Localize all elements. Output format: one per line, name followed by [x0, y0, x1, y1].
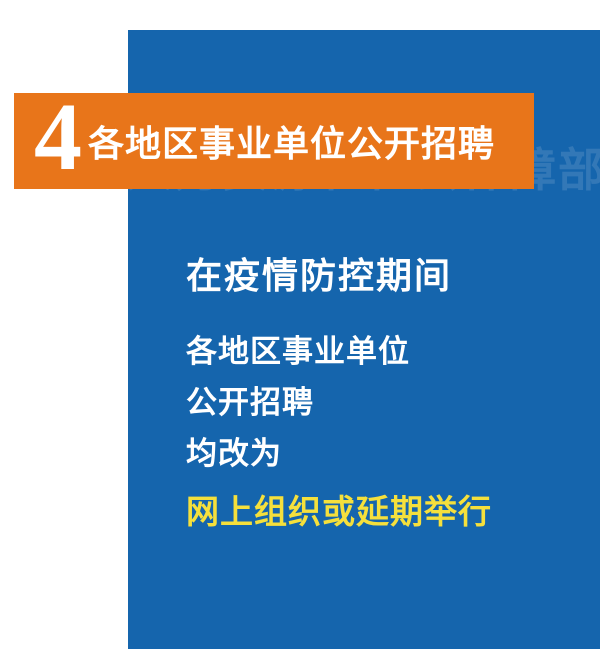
band-title: 各地区事业单位公开招聘 [88, 115, 495, 167]
content-line-1: 各地区事业单位 [186, 326, 586, 377]
poster-canvas: 人力资源和社会保障部 4 各地区事业单位公开招聘 在疫情防控期间 各地区事业单位… [0, 0, 600, 649]
content-line-3: 均改为 [186, 428, 586, 479]
content-line-2: 公开招聘 [186, 377, 586, 428]
body-text-block: 在疫情防控期间 各地区事业单位 公开招聘 均改为 网上组织或延期举行 [186, 250, 586, 541]
band-number: 4 [34, 93, 82, 185]
content-heading: 在疫情防控期间 [186, 250, 586, 302]
headline-band: 4 各地区事业单位公开招聘 [14, 93, 534, 189]
content-accent-line: 网上组织或延期举行 [186, 485, 586, 541]
